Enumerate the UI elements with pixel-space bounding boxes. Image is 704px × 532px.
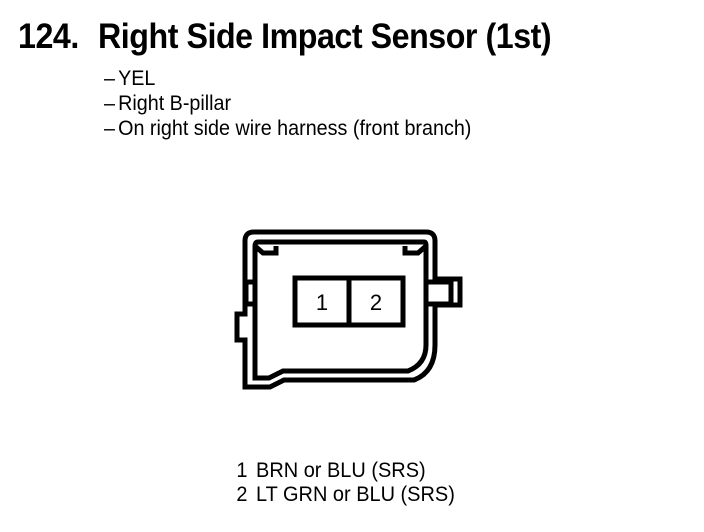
connector-tab-right — [426, 282, 451, 304]
connector-diagram: 1 2 — [228, 222, 473, 397]
dash-icon: – — [104, 91, 118, 116]
cavity-number-1: 1 — [316, 290, 328, 315]
legend-row: 1 BRN or BLU (SRS) — [200, 459, 455, 483]
dash-icon: – — [104, 66, 118, 91]
detail-wire-color: YEL — [118, 66, 155, 91]
title-text: Right Side Impact Sensor (1st) — [98, 17, 551, 57]
list-item: – On right side wire harness (front bran… — [104, 116, 593, 141]
legend-pin-description: BRN or BLU (SRS) — [256, 459, 426, 483]
list-item: – Right B-pillar — [104, 91, 593, 116]
connector-drawing: 1 2 — [228, 222, 473, 397]
item-number: 124. — [18, 17, 79, 57]
connector-notch-left — [255, 246, 276, 253]
legend-row: 2 LT GRN or BLU (SRS) — [200, 483, 455, 507]
page-title: 124. Right Side Impact Sensor (1st) — [18, 17, 591, 57]
detail-harness: On right side wire harness (front branch… — [118, 116, 471, 141]
legend-pin-number: 2 — [200, 483, 248, 507]
legend-pin-number: 1 — [200, 459, 248, 483]
legend-pin-description: LT GRN or BLU (SRS) — [256, 483, 455, 507]
connector-inner-wall — [255, 242, 426, 378]
detail-list: – YEL – Right B-pillar – On right side w… — [104, 66, 624, 141]
connector-notch-right — [405, 246, 426, 253]
connector-reference-page: 124. Right Side Impact Sensor (1st) – YE… — [0, 0, 704, 532]
detail-location: Right B-pillar — [118, 91, 231, 116]
cavity-number-2: 2 — [370, 290, 382, 315]
list-item: – YEL — [104, 66, 593, 91]
dash-icon: – — [104, 116, 118, 141]
pin-legend: 1 BRN or BLU (SRS) 2 LT GRN or BLU (SRS) — [200, 459, 468, 507]
